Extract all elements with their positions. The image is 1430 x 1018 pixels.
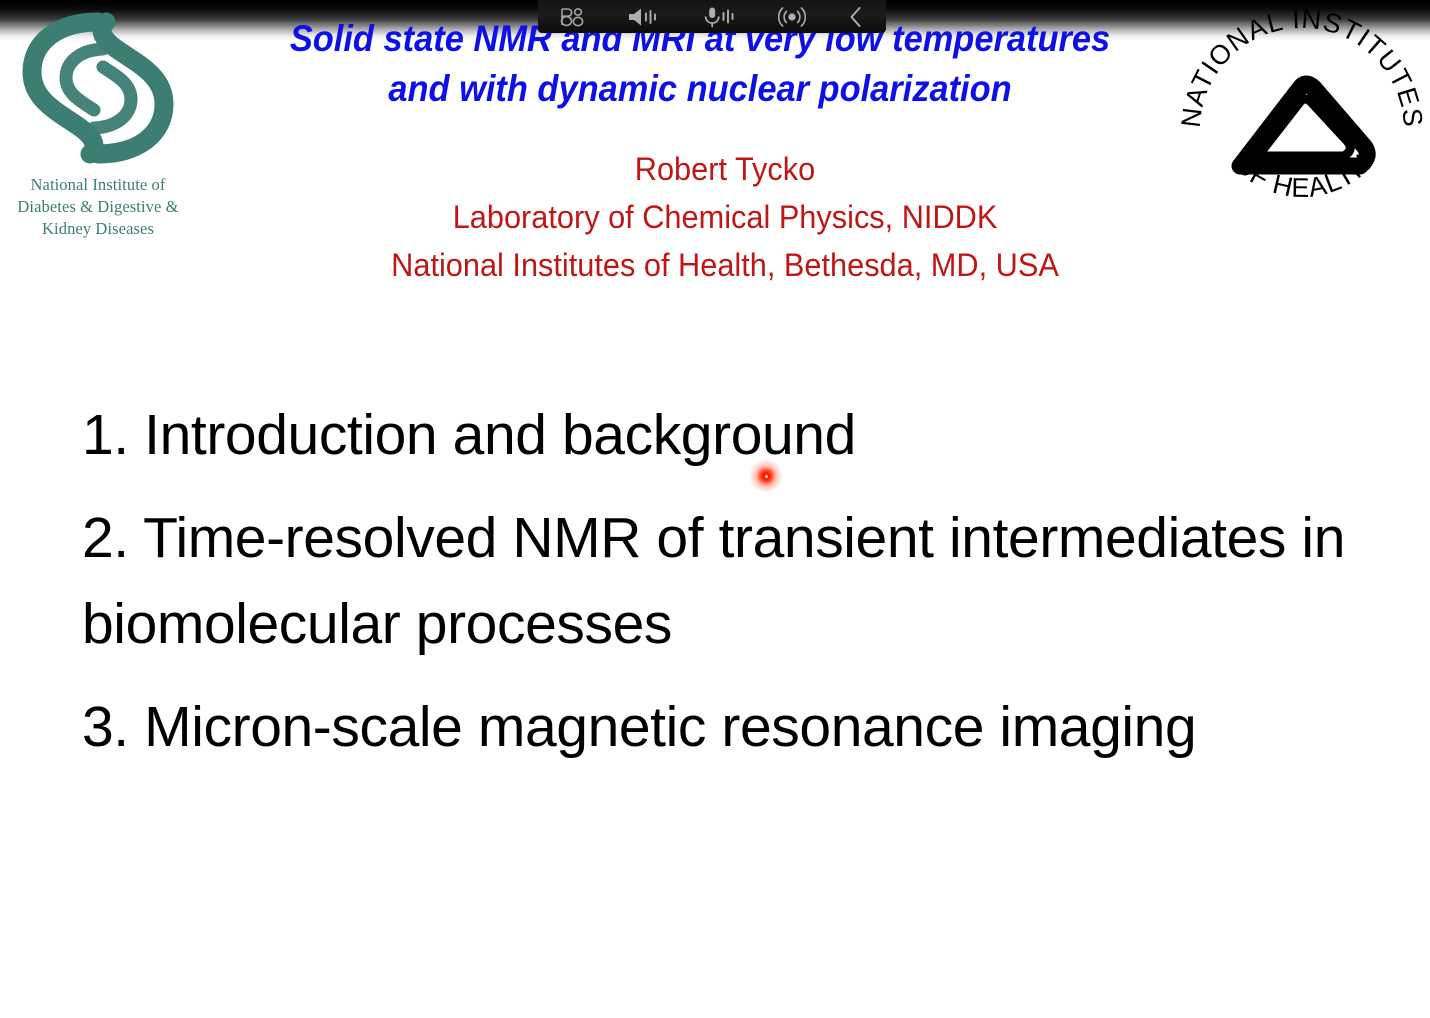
nih-arc-top-text: NATIONAL INSTITUTES bbox=[1180, 4, 1424, 129]
bang-olufsen-logo-icon[interactable] bbox=[555, 0, 589, 33]
agenda-item-1: 1. Introduction and background bbox=[82, 392, 1402, 479]
niddk-text-line-3: Kidney Diseases bbox=[42, 219, 154, 238]
byline-lab: Laboratory of Chemical Physics, NIDDK bbox=[221, 193, 1229, 241]
microphone-icon[interactable] bbox=[698, 0, 740, 33]
slide-byline: Robert Tycko Laboratory of Chemical Phys… bbox=[221, 145, 1229, 289]
byline-author: Robert Tycko bbox=[221, 145, 1229, 193]
sound-mode-icon[interactable] bbox=[774, 0, 810, 33]
speaker-volume-icon[interactable] bbox=[622, 0, 664, 33]
niddk-text-line-2: Diabetes & Digestive & bbox=[17, 197, 178, 216]
svg-text:NATIONAL INSTITUTES: NATIONAL INSTITUTES bbox=[1180, 4, 1424, 129]
bo-media-toolbar[interactable] bbox=[538, 0, 886, 33]
slide-title-line-2: and with dynamic nuclear polarization bbox=[189, 64, 1212, 114]
byline-institution: National Institutes of Health, Bethesda,… bbox=[221, 241, 1229, 289]
niddk-logo-text: National Institute of Diabetes & Digesti… bbox=[0, 174, 196, 240]
niddk-logo-mark bbox=[6, 4, 190, 172]
chevron-left-icon[interactable] bbox=[843, 0, 869, 33]
presentation-slide: National Institute of Diabetes & Digesti… bbox=[0, 0, 1430, 1018]
agenda-list: 1. Introduction and background 2. Time-r… bbox=[82, 392, 1402, 771]
agenda-item-2: 2. Time-resolved NMR of transient interm… bbox=[82, 495, 1402, 668]
niddk-logo: National Institute of Diabetes & Digesti… bbox=[0, 4, 196, 248]
niddk-text-line-1: National Institute of bbox=[31, 175, 166, 194]
agenda-item-3: 3. Micron-scale magnetic resonance imagi… bbox=[82, 684, 1402, 771]
